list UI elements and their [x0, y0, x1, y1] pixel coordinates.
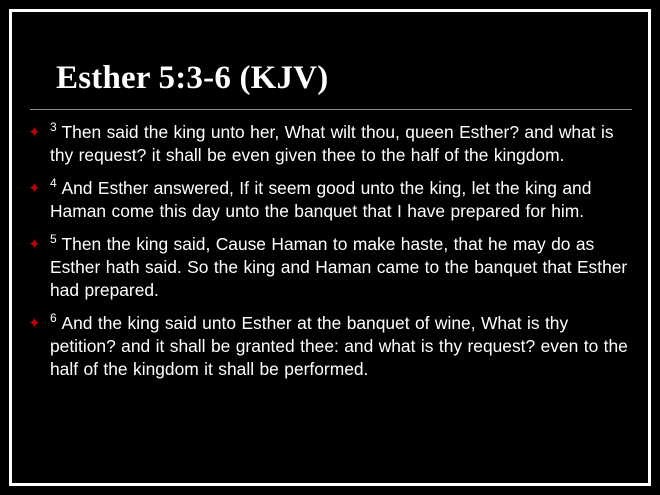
- verse-text: Then the king said, Cause Haman to make …: [50, 234, 627, 300]
- verse-number: 6: [50, 311, 57, 325]
- title-divider: [30, 109, 632, 110]
- list-item: ✦ 6 And the king said unto Esther at the…: [24, 312, 638, 381]
- list-item: ✦ 3 Then said the king unto her, What wi…: [24, 121, 638, 167]
- verse-number: 5: [50, 232, 57, 246]
- diamond-bullet-icon: ✦: [28, 183, 39, 194]
- diamond-bullet-icon: ✦: [28, 127, 39, 138]
- presentation-slide: Esther 5:3-6 (KJV) ✦ 3 Then said the kin…: [0, 0, 660, 495]
- slide-title: Esther 5:3-6 (KJV): [22, 22, 638, 96]
- verse-number: 3: [50, 121, 57, 135]
- verse-text: And the king said unto Esther at the ban…: [50, 313, 628, 379]
- verse-text: And Esther answered, If it seem good unt…: [50, 178, 591, 221]
- diamond-bullet-icon: ✦: [28, 239, 39, 250]
- diamond-bullet-icon: ✦: [28, 318, 39, 329]
- verse-list: ✦ 3 Then said the king unto her, What wi…: [22, 121, 638, 381]
- list-item: ✦ 5 Then the king said, Cause Haman to m…: [24, 233, 638, 302]
- verse-text: Then said the king unto her, What wilt t…: [50, 122, 614, 165]
- slide-content: Esther 5:3-6 (KJV) ✦ 3 Then said the kin…: [22, 22, 638, 473]
- verse-number: 4: [50, 176, 57, 190]
- list-item: ✦ 4 And Esther answered, If it seem good…: [24, 177, 638, 223]
